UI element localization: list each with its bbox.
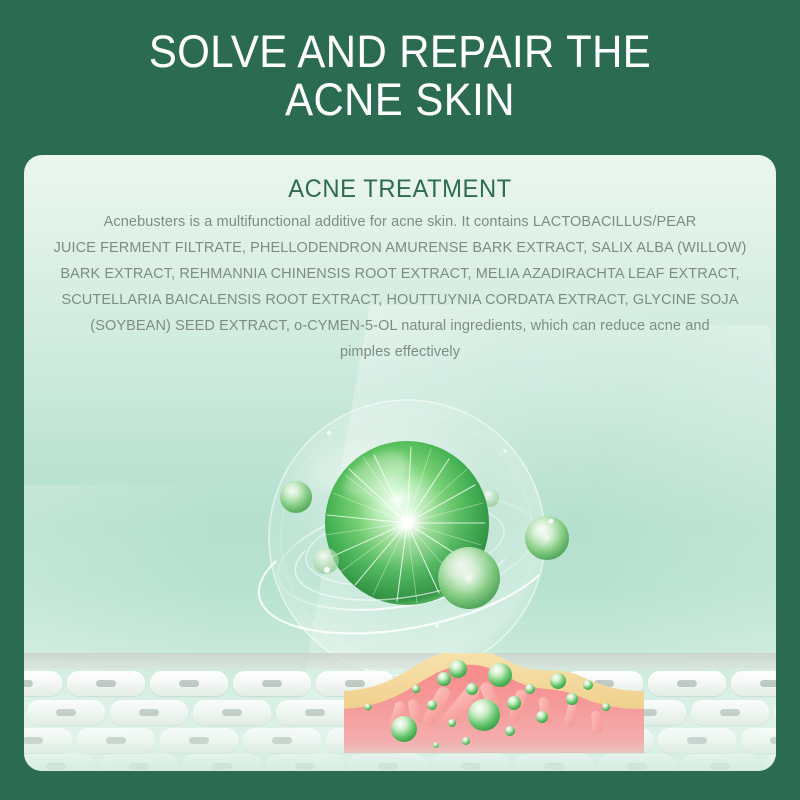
skin-cell <box>24 754 95 771</box>
poster-root: SOLVE AND REPAIR THE ACNE SKIN ACNE TREA… <box>0 0 800 800</box>
description-line: Acnebusters is a multifunctional additiv… <box>40 209 760 235</box>
skin-cell <box>110 700 188 725</box>
skin-cell-row <box>24 754 776 771</box>
skin-cell <box>160 728 238 753</box>
headline-line-2: ACNE SKIN <box>28 76 772 124</box>
headline-line-1: SOLVE AND REPAIR THE <box>149 26 651 77</box>
skin-cell <box>349 754 427 771</box>
description-line: (SOYBEAN) SEED EXTRACT, o-CYMEN-5-OL nat… <box>40 313 760 339</box>
skin-cell <box>648 671 726 696</box>
skin-cell <box>731 671 776 696</box>
skin-cell <box>150 671 228 696</box>
skin-cell <box>243 728 321 753</box>
description-line: BARK EXTRACT, REHMANNIA CHINENSIS ROOT E… <box>40 261 760 287</box>
skin-cell <box>774 700 776 725</box>
skin-cell <box>741 728 776 753</box>
skin-cell <box>24 728 72 753</box>
skin-cell <box>658 728 736 753</box>
skin-cell <box>24 671 62 696</box>
skin-cell <box>276 700 354 725</box>
acne-lesion <box>344 653 644 753</box>
skin-cell <box>67 671 145 696</box>
description-line: pimples effectively <box>40 339 760 365</box>
skin-cell <box>100 754 178 771</box>
skin-cell <box>598 754 676 771</box>
description-line: JUICE FERMENT FILTRATE, PHELLODENDRON AM… <box>40 235 760 261</box>
skin-cross-section-illustration <box>24 653 776 771</box>
skin-cell <box>691 700 769 725</box>
page-title: SOLVE AND REPAIR THE ACNE SKIN <box>28 28 772 124</box>
skin-cell <box>681 754 759 771</box>
orbit-sphere <box>280 481 312 513</box>
skin-cell <box>27 700 105 725</box>
ingredient-description: Acnebusters is a multifunctional additiv… <box>40 209 760 365</box>
skin-cell <box>77 728 155 753</box>
description-line: SCUTELLARIA BAICALENSIS ROOT EXTRACT, HO… <box>40 287 760 313</box>
skin-cell <box>432 754 510 771</box>
skin-cell <box>193 700 271 725</box>
skin-cell <box>764 754 776 771</box>
skin-cell <box>515 754 593 771</box>
lesion-svg <box>344 653 644 753</box>
skin-cell <box>233 671 311 696</box>
molecule-bubble-illustration <box>199 393 619 693</box>
content-card: ACNE TREATMENT Acnebusters is a multifun… <box>24 155 776 771</box>
molecule-svg <box>199 393 619 693</box>
section-heading: ACNE TREATMENT <box>43 175 757 204</box>
skin-cell <box>266 754 344 771</box>
skin-cell <box>183 754 261 771</box>
